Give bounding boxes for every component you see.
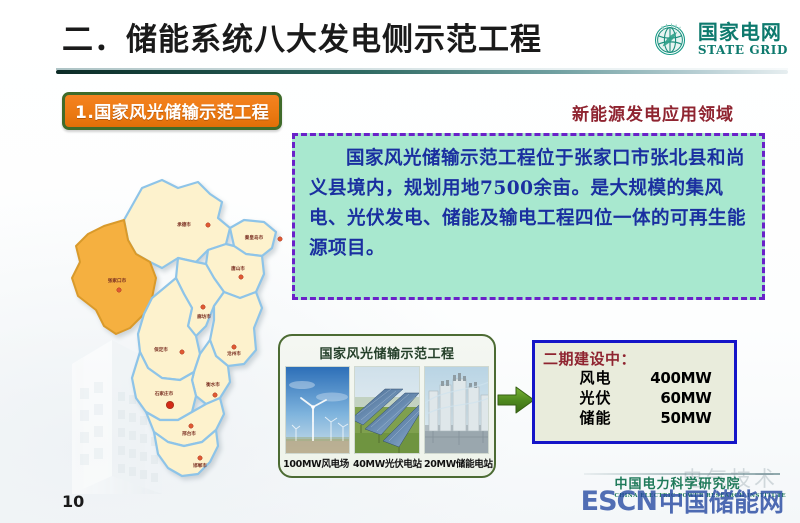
photo-caption: 40MW光伏电站	[353, 456, 420, 470]
photo-panel-title: 国家风光储输示范工程	[285, 343, 489, 362]
phase2-title: 二期建设中：	[543, 348, 726, 369]
storage-station-photo	[424, 366, 489, 454]
map-city-dot	[189, 424, 193, 428]
map-city-dot	[232, 345, 236, 349]
state-grid-logo: 国家电网 STATE GRID	[649, 18, 788, 60]
phase2-row: 光伏 60MW	[543, 389, 726, 409]
phase2-item-name: 光伏	[580, 389, 636, 409]
solar-plant-photo	[354, 366, 419, 454]
map-city-label: 唐山市	[231, 265, 245, 272]
cepri-logo-cn: 中国电力科学研究院	[614, 473, 740, 492]
phase2-item-name: 风电	[580, 369, 636, 389]
map-city-label: 沧州市	[227, 350, 241, 357]
page-title: 二．储能系统八大发电侧示范工程	[62, 14, 542, 59]
project-description-box: 国家风光储输示范工程位于张家口市张北县和尚义县境内，规划用地7500余亩。是大规…	[292, 133, 765, 300]
project-description-text: 国家风光储输示范工程位于张家口市张北县和尚义县境内，规划用地7500余亩。是大规…	[309, 144, 748, 264]
phase2-item-value: 60MW	[638, 389, 712, 409]
section-badge: 1.国家风光储输示范工程	[62, 92, 282, 130]
map-city-label: 张家口市	[108, 277, 127, 284]
map-city-dot	[239, 275, 243, 279]
phase2-row: 储能 50MW	[543, 409, 726, 429]
phase2-item-value: 400MW	[638, 369, 712, 389]
application-domain-caption: 新能源发电应用领域	[572, 100, 734, 125]
slide-canvas: 二．储能系统八大发电侧示范工程	[0, 0, 800, 523]
brand-name-en: STATE GRID	[698, 44, 788, 56]
phase2-construction-box: 二期建设中： 风电 400MW 光伏 60MW 储能 50MW	[532, 340, 737, 444]
project-photo-panel: 国家风光储输示范工程	[278, 334, 496, 478]
phase2-item-value: 50MW	[638, 409, 712, 429]
section-badge-label: 1.国家风光储输示范工程	[75, 103, 269, 123]
map-city-dot	[198, 456, 202, 460]
phase2-item-name: 储能	[580, 409, 636, 429]
globe-logo-icon	[649, 18, 691, 60]
hebei-province-map: 承德市秦皇岛市唐山市张家口市廊坊市保定市沧州市衡水市石家庄市邢台市邯郸市	[58, 158, 294, 488]
map-city-dot	[213, 393, 217, 397]
map-city-label: 秦皇岛市	[244, 234, 264, 241]
map-city-dot	[117, 288, 121, 292]
map-city-label: 承德市	[177, 221, 191, 228]
photo-strip	[285, 366, 489, 454]
page-number: 10	[62, 492, 84, 511]
title-underline-rule	[56, 70, 788, 74]
map-city-label: 邯郸市	[193, 462, 207, 469]
map-city-dot	[180, 350, 184, 354]
map-city-label: 邢台市	[182, 430, 196, 437]
cepri-logo: 中国电力科学研究院 CHINA ELECTRIC POWER RESEARCH …	[614, 473, 786, 499]
map-graphic: 承德市秦皇岛市唐山市张家口市廊坊市保定市沧州市衡水市石家庄市邢台市邯郸市	[58, 158, 294, 488]
slide-header: 二．储能系统八大发电侧示范工程	[0, 6, 800, 72]
map-city-dot	[278, 237, 282, 241]
map-city-label: 石家庄市	[154, 390, 174, 397]
brand-name-cn: 国家电网	[698, 22, 788, 42]
wind-farm-photo	[285, 366, 350, 454]
photo-caption: 20MW储能电站	[424, 456, 491, 470]
map-city-dot	[206, 223, 210, 227]
photo-caption: 100MW风电场	[283, 456, 349, 470]
map-city-label: 衡水市	[206, 381, 220, 388]
photo-caption-row: 100MW风电场 40MW光伏电站 20MW储能电站	[285, 456, 489, 470]
map-city-dot	[166, 401, 173, 408]
cepri-logo-en: CHINA ELECTRIC POWER RESEARCH INSTITUTE	[614, 493, 786, 499]
map-city-dot	[201, 305, 205, 309]
map-city-label: 保定市	[153, 346, 168, 353]
map-city-label: 廊坊市	[197, 313, 211, 320]
phase2-row: 风电 400MW	[543, 369, 726, 389]
green-right-arrow-icon	[497, 385, 535, 415]
